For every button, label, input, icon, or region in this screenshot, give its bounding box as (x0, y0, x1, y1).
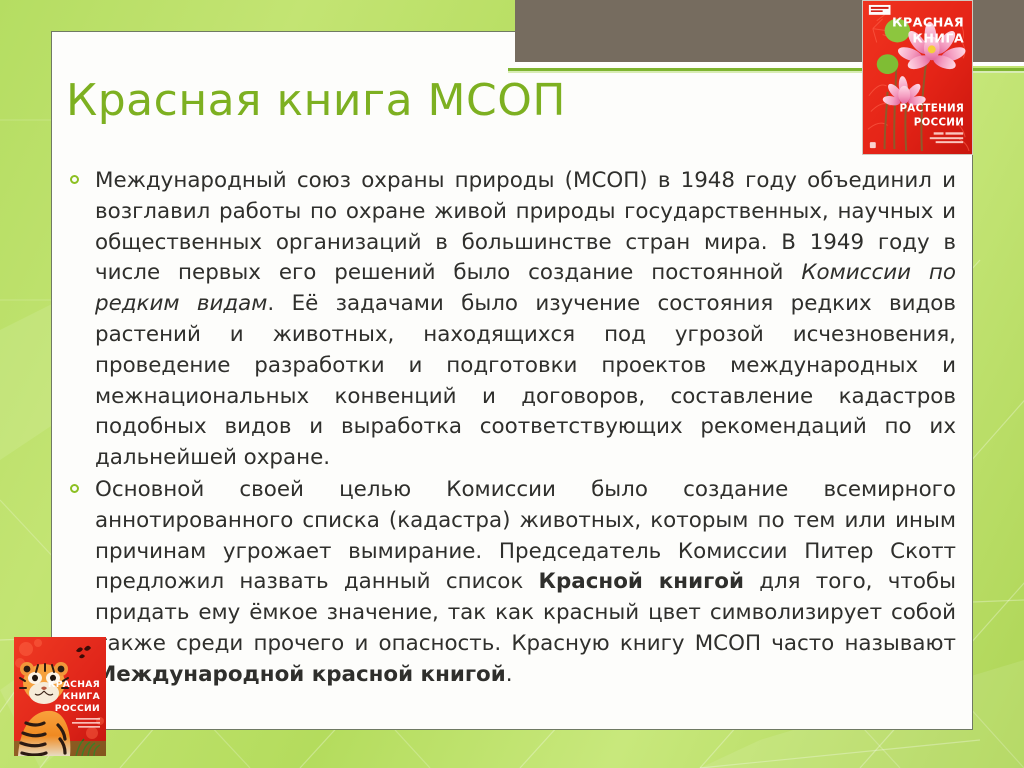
svg-text:КРАСНАЯ: КРАСНАЯ (48, 679, 100, 690)
svg-text:КНИГА: КНИГА (63, 691, 101, 702)
slide-body: Международный союз охраны природы (МСОП)… (68, 166, 956, 691)
paragraph-text: Основной своей целью Комиссии было созда… (95, 475, 956, 691)
presentation-slide: Красная книга МСОП Международный союз ох… (0, 0, 1024, 768)
list-item: Основной своей целью Комиссии было созда… (68, 475, 956, 691)
svg-text:РОССИИ: РОССИИ (914, 116, 964, 128)
svg-text:КНИГА: КНИГА (912, 31, 964, 46)
text-run-bold: Красной книгой (539, 569, 744, 594)
text-run-bold: Международной красной книгой (95, 662, 506, 687)
svg-text:РОССИИ: РОССИИ (55, 703, 100, 714)
text-run-normal: . Её задачами было изучение состояния ре… (95, 291, 956, 470)
paragraph-text: Международный союз охраны природы (МСОП)… (95, 166, 956, 474)
circle-outline-bullet-icon (70, 175, 79, 184)
list-item: Международный союз охраны природы (МСОП)… (68, 166, 956, 474)
book-cover-plants-image: КРАСНАЯ КНИГА РАСТЕНИЯ РОССИИ (862, 0, 973, 155)
circle-outline-bullet-icon (70, 484, 79, 493)
text-run-normal: . (506, 662, 513, 687)
svg-text:РАСТЕНИЯ: РАСТЕНИЯ (899, 103, 964, 115)
svg-text:КРАСНАЯ: КРАСНАЯ (892, 16, 964, 31)
book-cover-tiger-image: КРАСНАЯ КНИГА РОССИИ (14, 637, 106, 756)
bullet-list: Международный союз охраны природы (МСОП)… (68, 166, 956, 691)
slide-title: Красная книга МСОП (66, 78, 706, 124)
